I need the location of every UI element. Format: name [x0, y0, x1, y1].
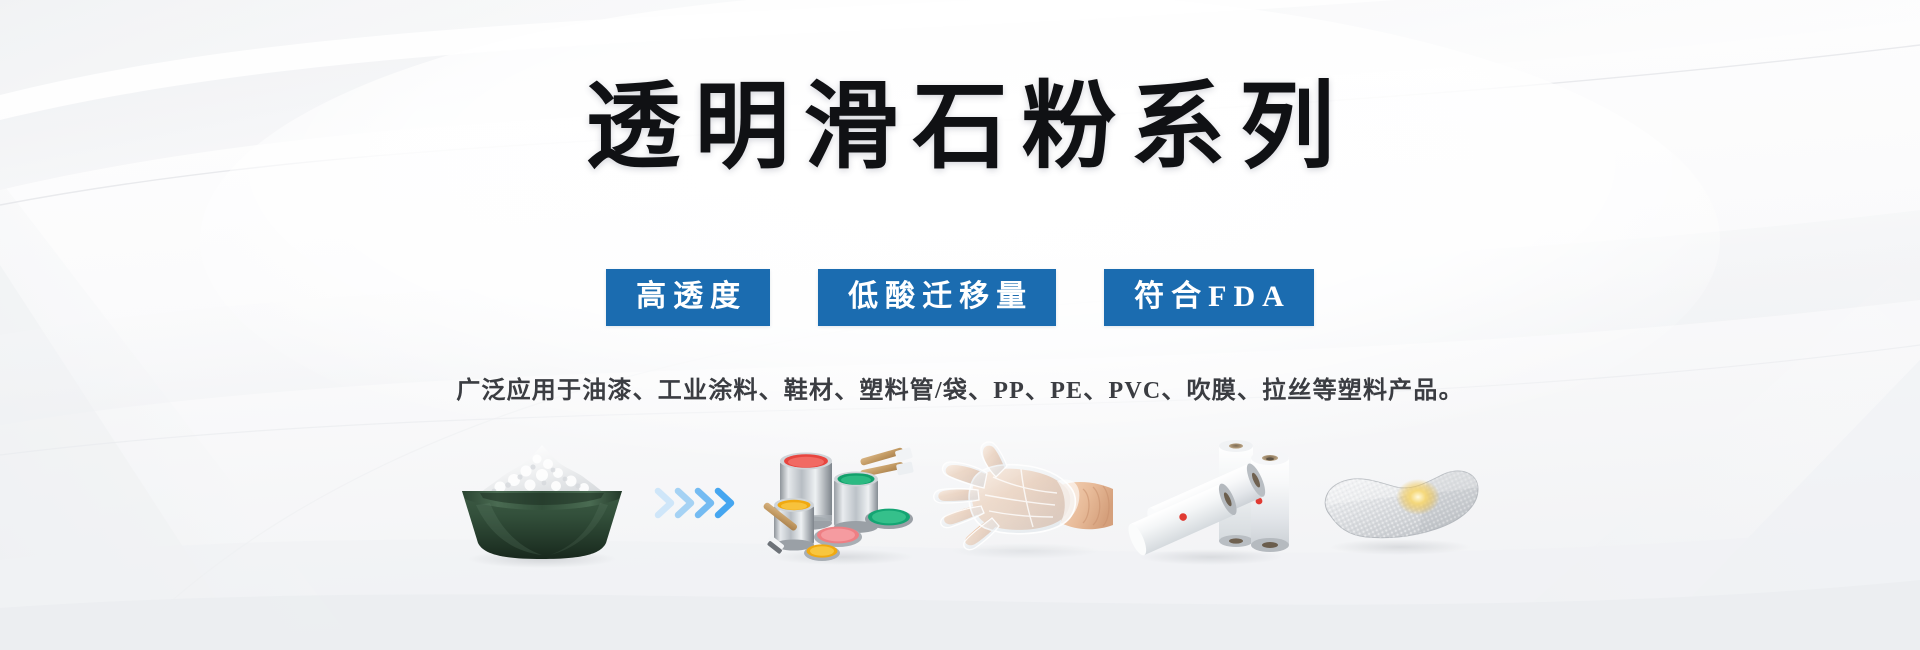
- description-container: 广泛应用于油漆、工业涂料、鞋材、塑料管/袋、PP、PE、PVC、吹膜、拉丝等塑料…: [0, 370, 1920, 405]
- page-title: 透明滑石粉系列: [0, 78, 1920, 178]
- sole-glow-spot: [1396, 479, 1440, 515]
- title-container: 透明滑石粉系列: [0, 78, 1920, 178]
- product-image-paint-cans: [753, 438, 928, 568]
- product-image-talc-powder-bowl: [433, 438, 648, 568]
- chevron-right-icon-3: [698, 491, 711, 515]
- chevron-right-icon-4: [718, 491, 731, 515]
- feature-badge-row: 高透度 低酸迁移量 符合FDA: [0, 269, 1920, 326]
- feature-badge-fda-compliant[interactable]: 符合FDA: [1104, 269, 1314, 326]
- application-description: 广泛应用于油漆、工业涂料、鞋材、塑料管/袋、PP、PE、PVC、吹膜、拉丝等塑料…: [0, 370, 1920, 405]
- product-image-strip: [0, 438, 1920, 568]
- process-arrow-group: [648, 438, 753, 568]
- product-image-plastic-glove-hand: [928, 438, 1118, 568]
- feature-badge-high-transparency[interactable]: 高透度: [606, 269, 770, 326]
- feature-badge-low-acid-migration[interactable]: 低酸迁移量: [818, 269, 1056, 326]
- film-roll-front-left: [1124, 481, 1239, 557]
- product-banner: 透明滑石粉系列 高透度 低酸迁移量 符合FDA 广泛应用于油漆、工业涂料、鞋材、…: [0, 0, 1920, 650]
- film-roll-back-right: [1251, 451, 1289, 552]
- chevron-right-icon-2: [678, 491, 691, 515]
- chevron-right-icon-1: [658, 491, 671, 515]
- product-image-plastic-film-rolls: [1118, 438, 1303, 568]
- product-image-shoe-sole: [1303, 438, 1488, 568]
